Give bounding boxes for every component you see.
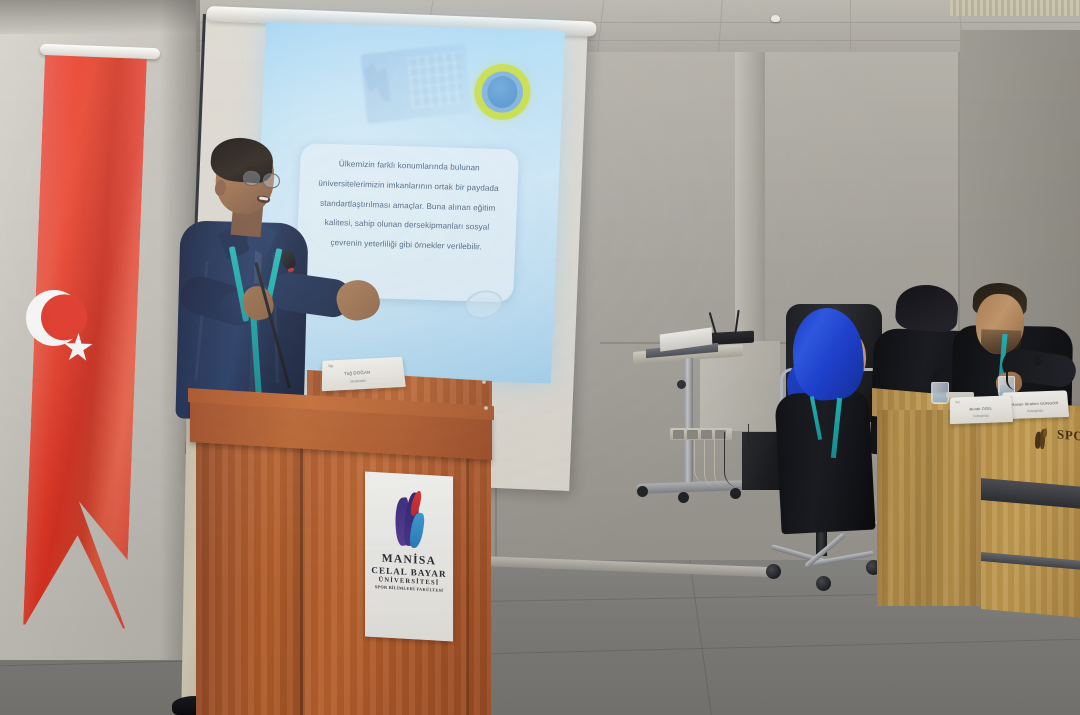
cart-pole	[684, 358, 693, 486]
podium-name-card: Ögr. Tuğ DOĞAN Moderatör	[322, 357, 406, 392]
name-card-title: Ögr.	[328, 364, 334, 368]
name-card-role: Moderatör	[350, 379, 366, 384]
panel-table-side	[877, 410, 983, 606]
tulip-flame-logo-icon	[390, 489, 428, 549]
cart-height-knob[interactable]	[677, 380, 686, 389]
office-chair-wheel	[816, 576, 831, 591]
manisa-celal-bayar-logo-icon	[1033, 427, 1050, 450]
keyboard-watermark-icon	[360, 43, 471, 124]
table-microphone-head	[1034, 356, 1041, 366]
office-chair-wheel	[766, 564, 781, 579]
nameplate-name: Hasan İbrahim GÜNGÖR	[1002, 400, 1068, 407]
podium-corner-edge	[466, 448, 469, 715]
nameplate-role: Konuşmacı	[950, 413, 1013, 419]
eyeglasses-icon	[242, 170, 279, 188]
data-cable	[724, 432, 749, 488]
podium-screw	[484, 406, 488, 410]
recessed-light-panel	[950, 0, 1080, 16]
panelist-1-torso	[774, 390, 875, 535]
nameplate-title: Ögr.	[955, 400, 961, 404]
slide-body-text: Ülkemizin farklı konumlarında bulunan ün…	[307, 153, 509, 258]
caster-wheel	[678, 492, 689, 503]
wall-column	[735, 52, 765, 352]
nameplate-panelist-2: Ögr. Burak ÖZEL Konuşmacı	[950, 395, 1013, 424]
nameplate-name: Burak ÖZEL	[950, 405, 1012, 412]
smoke-detector-icon	[771, 15, 780, 22]
caster-wheel	[637, 486, 648, 497]
podium-corner-edge	[300, 440, 303, 715]
table-microphone	[1006, 360, 1038, 390]
table-brand-text: SPOR	[1057, 426, 1080, 445]
caster-wheel	[730, 488, 741, 499]
podium-logo-plaque: MANİSA CELAL BAYAR ÜNİVERSİTESİ SPOR BİL…	[365, 472, 453, 642]
name-card-name: Tuğ DOĞAN	[344, 370, 371, 376]
presentation-room-photo: Ülkemizin farklı konumlarında bulunan ün…	[0, 0, 1080, 715]
podium-screw	[482, 380, 486, 384]
